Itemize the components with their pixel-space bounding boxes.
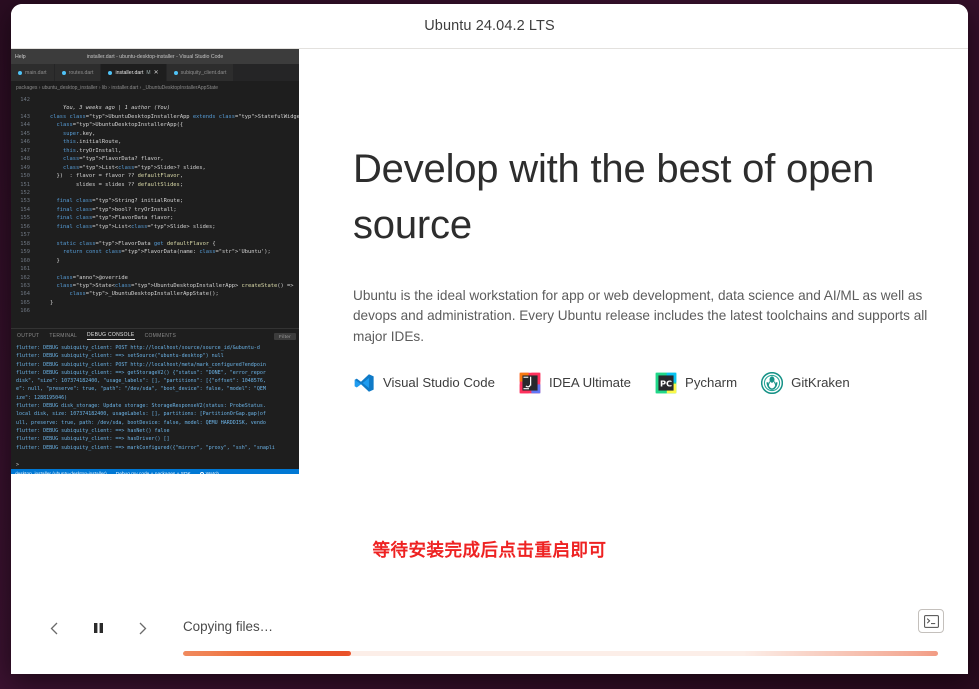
code-line-number: 162: [11, 274, 37, 282]
code-line: 166: [11, 307, 299, 315]
code-line-number: 161: [11, 265, 37, 273]
vscode-menubar: Help installer.dart - ubuntu-desktop-ins…: [11, 49, 299, 64]
code-line-text: final class="typ">bool? tryOrInstall;: [37, 206, 177, 214]
app-label: GitKraken: [791, 375, 850, 390]
code-line-number: 152: [11, 189, 37, 197]
console-log-line: flutter: DEBUG subiquity_client: ==> has…: [16, 427, 299, 435]
vscode-status-bar: desktop_installer (ubuntu-desktop-instal…: [11, 469, 299, 474]
overlay-note: 等待安装完成后点击重启即可: [11, 537, 968, 562]
code-line: 157: [11, 231, 299, 239]
code-line: 148 class="typ">FlavorData? flavor,: [11, 155, 299, 163]
code-line-number: 147: [11, 147, 37, 155]
console-log-line: local disk, size: 107374182400, usageLab…: [16, 410, 299, 418]
code-line-text: }: [37, 299, 53, 307]
code-line-text: class="typ">FlavorData? flavor,: [37, 155, 164, 163]
vscode-tab[interactable]: main.dart: [11, 64, 55, 81]
slideshow-area: Help installer.dart - ubuntu-desktop-ins…: [11, 49, 968, 597]
code-line-number: 149: [11, 164, 37, 172]
code-line-number: 158: [11, 240, 37, 248]
code-line: 151 slides = slides ?? defaultSlides;: [11, 181, 299, 189]
code-line: 161: [11, 265, 299, 273]
code-line-text: final class="typ">List<class="typ">Slide…: [37, 223, 216, 231]
code-line-number: [11, 104, 37, 112]
app-item: GitKraken: [761, 372, 850, 394]
code-line-number: 157: [11, 231, 37, 239]
console-log-line: flutter: DEBUG subiquity_client: POST ht…: [16, 344, 299, 352]
code-line: 145 super.key,: [11, 130, 299, 138]
code-line-text: class="anno">@override: [37, 274, 128, 282]
code-line-number: 153: [11, 197, 37, 205]
app-label: Visual Studio Code: [383, 375, 495, 390]
code-line: 159 return const class="typ">FlavorData(…: [11, 248, 299, 256]
vscode-panel-tab[interactable]: DEBUG CONSOLE: [87, 332, 135, 340]
vscode-breadcrumb-text: packages › ubuntu_desktop_installer › li…: [16, 85, 218, 91]
code-line-number: 150: [11, 172, 37, 180]
code-line: 150 }) : flavor = flavor ?? defaultFlavo…: [11, 172, 299, 180]
chevron-left-icon: [48, 621, 61, 636]
vscode-tab-label: routes.dart: [69, 70, 94, 76]
code-line-number: 164: [11, 290, 37, 298]
vscode-status-debug-config: Debug my code + packages + SDK: [116, 472, 191, 474]
code-line: 152: [11, 189, 299, 197]
install-status-label: Copying files…: [183, 619, 273, 634]
progress-segment-3: [743, 651, 938, 656]
code-line-text: final class="typ">String? initialRoute;: [37, 197, 183, 205]
vscode-debug-console: flutter: DEBUG subiquity_client: POST ht…: [11, 343, 299, 460]
code-line-text: }) : flavor = flavor ?? defaultFlavor,: [37, 172, 183, 180]
slideshow-controls: [41, 615, 155, 641]
code-line-text: class="typ">List<class="typ">Slide>? sli…: [37, 164, 206, 172]
console-log-line: flutter: DEBUG subiquity_client: POST ht…: [16, 361, 299, 369]
code-line-text: class="typ">State<class="typ">UbuntuDesk…: [37, 282, 293, 290]
slide-headline: Develop with the best of open source: [353, 141, 928, 253]
svg-text:PC: PC: [660, 378, 672, 388]
code-line-text: class="typ">_UbuntuDesktopInstallerAppSt…: [37, 290, 219, 298]
vscode-debug-prompt-glyph: >: [16, 462, 19, 468]
code-line-text: final class="typ">FlavorData flavor;: [37, 214, 173, 222]
code-line-number: 146: [11, 138, 37, 146]
pycharm-icon: PC: [655, 372, 677, 394]
slide-app-list: Visual Studio Code IDEA Ultimate PC Pych…: [353, 372, 928, 394]
console-log-line: flutter: DEBUG subiquity_client: ==> set…: [16, 352, 299, 360]
code-line-text: class class="typ">UbuntuDesktopInstaller…: [37, 113, 299, 121]
code-line-number: 151: [11, 181, 37, 189]
code-line-number: 142: [11, 96, 37, 104]
code-line-number: 154: [11, 206, 37, 214]
terminal-toggle-button[interactable]: [918, 609, 944, 633]
vscode-tab[interactable]: subiquity_client.dart: [167, 64, 235, 81]
vscode-status-watch: Watch: [200, 472, 219, 474]
code-line: You, 3 weeks ago | 1 author (You): [11, 104, 299, 112]
vscode-status-project: desktop_installer (ubuntu-desktop-instal…: [15, 472, 107, 474]
pause-slideshow-button[interactable]: [85, 615, 111, 641]
code-line-text: class="typ">UbuntuDesktopInstallerApp({: [37, 121, 183, 129]
code-line-text: }: [37, 257, 60, 265]
code-line-text: slides = slides ?? defaultSlides;: [37, 181, 183, 189]
code-line-number: 143: [11, 113, 37, 121]
vscode-window-title: installer.dart - ubuntu-desktop-installe…: [11, 54, 299, 60]
app-label: IDEA Ultimate: [549, 375, 631, 390]
dart-file-icon: [18, 71, 22, 75]
vscode-tab-label: installer.dart: [115, 70, 143, 76]
pause-icon: [92, 621, 105, 635]
console-log-line: flutter: DEBUG subiquity_client: ==> mar…: [16, 444, 299, 452]
window-titlebar: Ubuntu 24.04.2 LTS: [11, 4, 968, 49]
vscode-panel-tab[interactable]: TERMINAL: [49, 333, 77, 339]
code-line: 153 final class="typ">String? initialRou…: [11, 197, 299, 205]
code-line: 164 class="typ">_UbuntuDesktopInstallerA…: [11, 290, 299, 298]
code-line: 156 final class="typ">List<class="typ">S…: [11, 223, 299, 231]
console-log-line: disk", "size": 107374182400, "usage_labe…: [16, 377, 299, 385]
app-item: Visual Studio Code: [353, 372, 495, 394]
vscode-tab-modified-indicator: M: [146, 70, 150, 76]
slide-text-column: Develop with the best of open source Ubu…: [353, 49, 968, 394]
code-line-number: 144: [11, 121, 37, 129]
code-line-number: 156: [11, 223, 37, 231]
code-line: 155 final class="typ">FlavorData flavor;: [11, 214, 299, 222]
code-line-number: 148: [11, 155, 37, 163]
vscode-editor-tabs: main.dartroutes.dartinstaller.dartM✕subi…: [11, 64, 299, 81]
console-log-line: flutter: DEBUG disk_storage: Update stor…: [16, 402, 299, 410]
code-line-number: 160: [11, 257, 37, 265]
code-line-number: 155: [11, 214, 37, 222]
code-line: 142: [11, 96, 299, 104]
code-line-text: You, 3 weeks ago | 1 author (You): [37, 104, 170, 112]
code-line-number: 163: [11, 282, 37, 290]
progress-segment-2: [211, 651, 351, 656]
next-slide-button[interactable]: [129, 615, 155, 641]
code-line-number: 165: [11, 299, 37, 307]
code-line-number: 145: [11, 130, 37, 138]
code-line: 165 }: [11, 299, 299, 307]
code-line: 147 this.tryOrInstall,: [11, 147, 299, 155]
code-line: 160 }: [11, 257, 299, 265]
slide-image-vscode: Help installer.dart - ubuntu-desktop-ins…: [11, 49, 299, 474]
vscode-breadcrumb: packages › ubuntu_desktop_installer › li…: [11, 81, 299, 94]
vscode-icon: [353, 372, 375, 394]
console-log-line: ize": 1288195046): [16, 394, 299, 402]
app-item: PC Pycharm: [655, 372, 737, 394]
code-line-text: return const class="typ">FlavorData(name…: [37, 248, 271, 256]
code-line: 146 this.initialRoute,: [11, 138, 299, 146]
code-line: 163 class="typ">State<class="typ">Ubuntu…: [11, 282, 299, 290]
vscode-debug-prompt: >: [11, 460, 299, 469]
dart-file-icon: [174, 71, 178, 75]
gitkraken-icon: [761, 372, 783, 394]
installer-window: Ubuntu 24.04.2 LTS Help installer.dart -…: [11, 4, 968, 674]
vscode-tab-label: main.dart: [25, 70, 47, 76]
code-line: 158 static class="typ">FlavorData get de…: [11, 240, 299, 248]
console-log-line: flutter: DEBUG subiquity_client: ==> get…: [16, 369, 299, 377]
dart-file-icon: [108, 71, 112, 75]
terminal-icon: [924, 615, 939, 628]
vscode-filter-input: Filter: [274, 333, 296, 340]
app-item: IDEA Ultimate: [519, 372, 631, 394]
install-progress-bar: [183, 651, 938, 656]
vscode-panel-tab[interactable]: COMMENTS: [145, 333, 177, 339]
vscode-tab[interactable]: installer.dartM✕: [101, 64, 166, 81]
vscode-panel-tab[interactable]: OUTPUT: [17, 333, 39, 339]
vscode-tab-label: subiquity_client.dart: [181, 70, 227, 76]
code-line: 144 class="typ">UbuntuDesktopInstallerAp…: [11, 121, 299, 129]
code-line: 154 final class="typ">bool? tryOrInstall…: [11, 206, 299, 214]
watch-circle-icon: [200, 472, 204, 474]
code-line-text: this.initialRoute,: [37, 138, 121, 146]
console-log-line: flutter: DEBUG subiquity_client: ==> has…: [16, 435, 299, 443]
app-label: Pycharm: [685, 375, 737, 390]
dart-file-icon: [62, 71, 66, 75]
code-line-text: static class="typ">FlavorData get defaul…: [37, 240, 216, 248]
installer-footer: Copying files…: [11, 597, 968, 674]
intellij-idea-icon: [519, 372, 541, 394]
code-line-number: 159: [11, 248, 37, 256]
vscode-code-editor: 142 You, 3 weeks ago | 1 author (You)143…: [11, 94, 299, 328]
vscode-panel-tabs: OUTPUTTERMINALDEBUG CONSOLECOMMENTSFilte…: [11, 328, 299, 343]
slide-body-text: Ubuntu is the ideal workstation for app …: [353, 286, 928, 347]
vscode-tab[interactable]: routes.dart: [55, 64, 102, 81]
console-log-line: e": null, "preserve": true, "path": "/de…: [16, 385, 299, 393]
code-line: 143 class class="typ">UbuntuDesktopInsta…: [11, 113, 299, 121]
vscode-tab-close-icon[interactable]: ✕: [154, 69, 159, 76]
code-line-number: 166: [11, 307, 37, 315]
code-line: 149 class="typ">List<class="typ">Slide>?…: [11, 164, 299, 172]
code-line-text: this.tryOrInstall,: [37, 147, 121, 155]
chevron-right-icon: [136, 621, 149, 636]
code-line-text: super.key,: [37, 130, 95, 138]
console-log-line: ull, preserve: true, path: /dev/sda, boo…: [16, 419, 299, 427]
previous-slide-button[interactable]: [41, 615, 67, 641]
code-line: 162 class="anno">@override: [11, 274, 299, 282]
window-title: Ubuntu 24.04.2 LTS: [424, 18, 555, 34]
